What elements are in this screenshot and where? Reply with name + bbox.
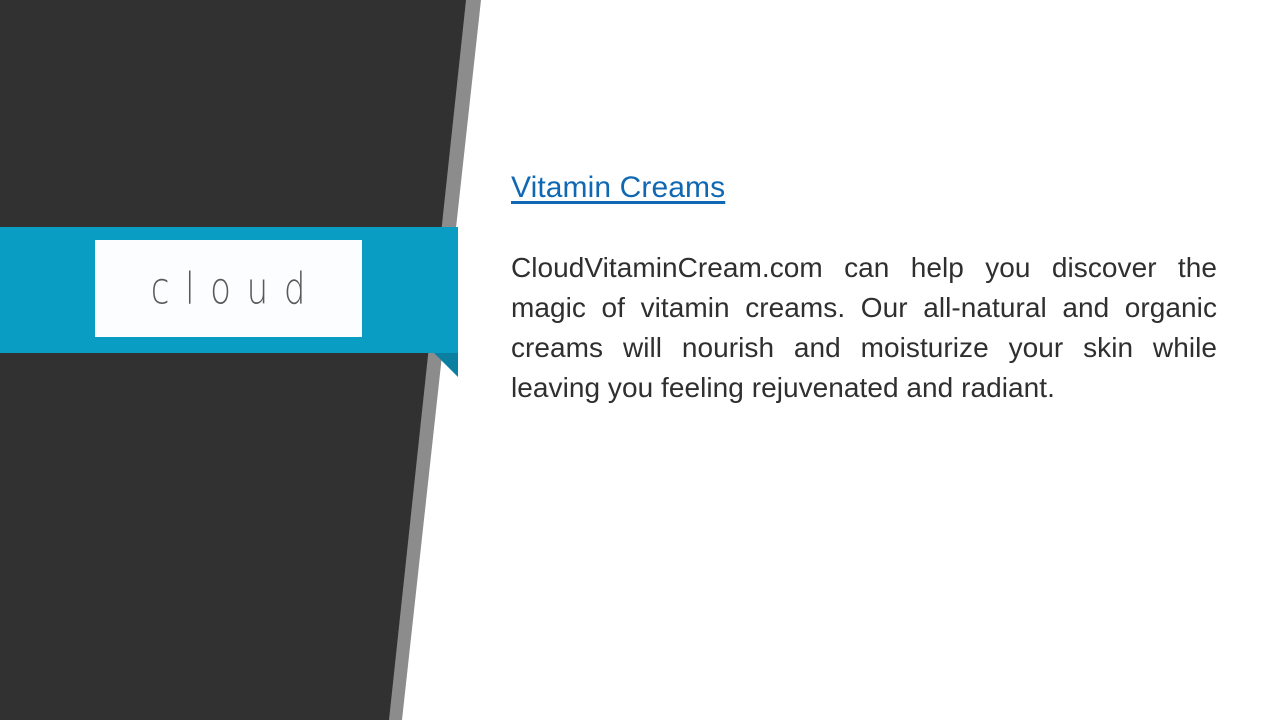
vitamin-creams-title-link[interactable]: Vitamin Creams (511, 168, 725, 208)
left-dark-panel (0, 0, 467, 720)
slide: cloud Vitamin Creams CloudVitaminCream.c… (0, 0, 1280, 720)
body-paragraph: CloudVitaminCream.com can help you disco… (511, 208, 1217, 408)
content-column: Vitamin Creams CloudVitaminCream.com can… (511, 168, 1217, 408)
cloud-logo-wordmark: cloud (135, 267, 321, 311)
logo-card: cloud (95, 240, 362, 337)
